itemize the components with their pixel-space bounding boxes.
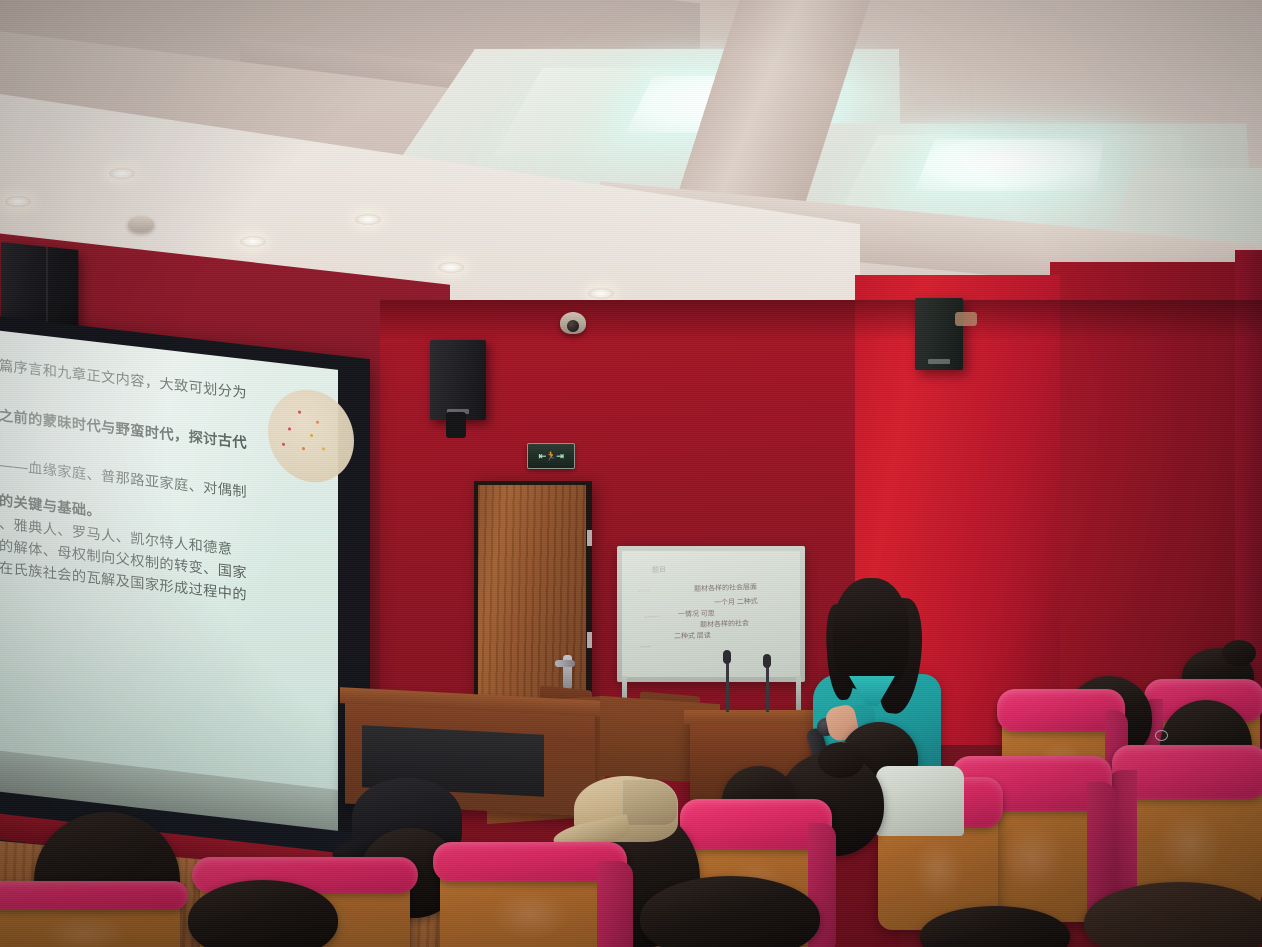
microphone-icon — [763, 654, 771, 668]
speaker-center-wall — [430, 340, 486, 420]
dome-camera-icon — [560, 312, 586, 334]
audience-hair-bun — [818, 742, 864, 778]
downlight-icon — [438, 262, 464, 273]
slide-content: 一书包括两篇序言和九章正文内容，大致可划分为 述文明时代之前的蒙昧时代与野蛮时代… — [0, 351, 326, 613]
downlight-icon — [5, 196, 31, 207]
whiteboard-note: 二种式 层读 — [674, 631, 711, 642]
eyeglasses-icon — [1155, 730, 1168, 741]
whiteboard-note: 题目 — [652, 565, 667, 576]
smoke-detector-icon — [128, 216, 154, 232]
wall-ceiling-shadow — [380, 300, 1262, 340]
audience-shirt — [876, 766, 964, 836]
microphone-stand — [766, 664, 769, 712]
seat[interactable] — [0, 888, 180, 947]
whiteboard-note: 题材各样的社会 — [700, 618, 749, 630]
audience-hair-bun — [1222, 640, 1256, 666]
whiteboard-note: ~~~ — [640, 643, 652, 652]
downlight-icon — [109, 168, 135, 179]
door-hinge — [587, 632, 592, 648]
microphone-stand — [726, 660, 729, 712]
exit-sign: ⇤🏃⇥ — [527, 443, 575, 469]
downlight-icon — [355, 214, 381, 225]
speaker-right-bracket — [955, 312, 977, 326]
whiteboard-note: ~~~~ — [644, 612, 660, 621]
door-lever[interactable] — [555, 660, 575, 667]
speaker-right-wall — [915, 298, 963, 370]
tan-mesh-cap — [574, 776, 678, 842]
downlight-icon — [588, 288, 614, 299]
seat[interactable] — [440, 852, 620, 947]
speaker-center-bracket — [446, 412, 466, 438]
whiteboard-note: 一情况 可思 — [678, 609, 715, 620]
downlight-icon — [240, 236, 266, 247]
whiteboard-note: 题材各样的社会层面 — [694, 582, 757, 594]
exit-sign-glyph: ⇤🏃⇥ — [539, 451, 564, 462]
microphone-icon — [723, 650, 731, 664]
whiteboard[interactable]: 题目 题材各样的社会层面 一个月 二种式 一情况 可思 题材各样的社会 二种式 … — [622, 551, 800, 677]
lecture-hall-photo: ⇤🏃⇥ 题目 题材各样的社会层面 一个月 二种式 一情况 可思 题材各样的社会 … — [0, 0, 1262, 947]
door-hinge — [587, 530, 592, 546]
whiteboard-note: 一个月 二种式 — [714, 596, 758, 608]
light-panel-right-icon — [915, 139, 1104, 191]
whiteboard-note: ····· — [638, 586, 650, 595]
